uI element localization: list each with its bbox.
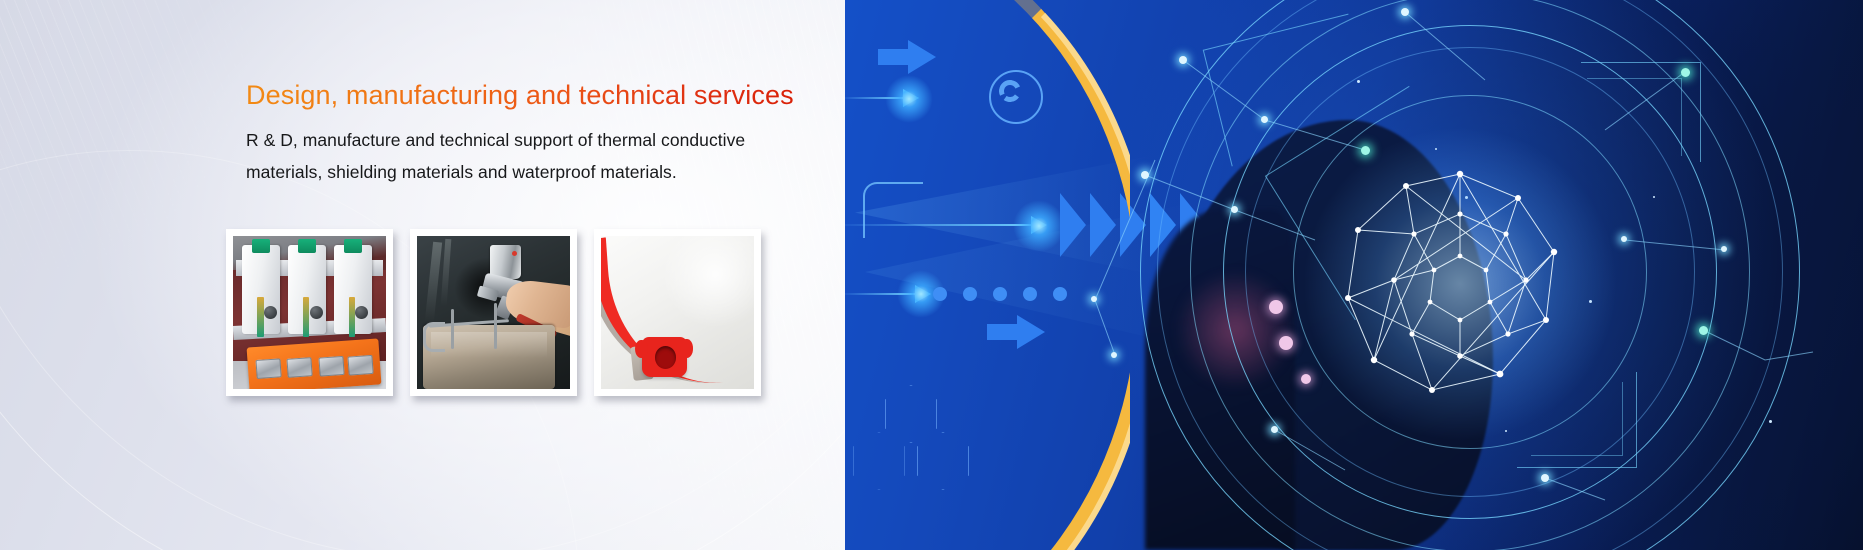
network-node (1179, 56, 1187, 64)
banner-description-line-1: R & D, manufacture and technical support… (246, 130, 745, 151)
thumbnail-spray-coating-process[interactable] (410, 229, 577, 396)
network-node (1301, 374, 1311, 384)
photo-dispensing-machine (233, 236, 386, 389)
network-node (1141, 171, 1149, 179)
network-node (1361, 146, 1370, 155)
promo-banner: Design, manufacturing and technical serv… (0, 0, 1863, 550)
polygon-sphere-svg (1340, 168, 1580, 400)
photo-spray-coating (417, 236, 570, 389)
network-node (1261, 116, 1268, 123)
network-node (1681, 68, 1690, 77)
network-node (1621, 236, 1627, 242)
network-node (1721, 246, 1727, 252)
network-node (1269, 300, 1283, 314)
network-node (1541, 474, 1549, 482)
network-node (1271, 426, 1278, 433)
banner-description-line-2: materials, shielding materials and water… (246, 162, 677, 183)
network-node (1231, 206, 1238, 213)
thumbnail-automatic-dispensing-machine[interactable] (226, 229, 393, 396)
gold-curve-divider (700, 0, 1130, 550)
network-node (1279, 336, 1293, 350)
network-node (1401, 8, 1409, 16)
network-node (1699, 326, 1708, 335)
polygon-sphere-graphic (1340, 168, 1580, 400)
